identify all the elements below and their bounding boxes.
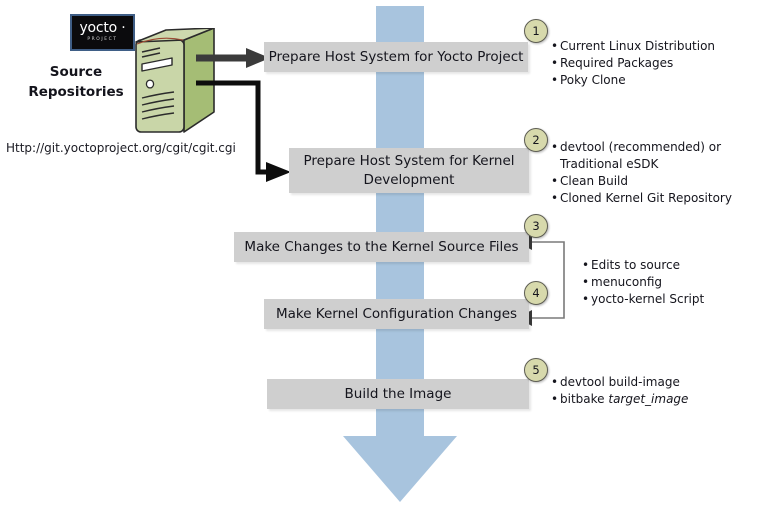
bullet-text: devtool (recommended) or Traditional eSD…: [560, 139, 767, 173]
step-number-3: 3: [524, 214, 548, 238]
bullet-dot-icon: •: [582, 274, 591, 291]
bullet-dot-icon: •: [551, 72, 560, 89]
bullet-item: • Current Linux Distribution: [551, 38, 766, 55]
bullet-text-italic: target_image: [608, 392, 688, 406]
bullet-item: • devtool (recommended) or Traditional e…: [551, 139, 767, 173]
bullet-text-with-italic: bitbake target_image: [560, 391, 766, 408]
bullet-dot-icon: •: [582, 257, 591, 274]
bullet-list-steps-3-4: • Edits to source • menuconfig • yocto-k…: [582, 257, 767, 308]
source-repositories-url: Http://git.yoctoproject.org/cgit/cgit.cg…: [6, 141, 236, 155]
bullet-text: Required Packages: [560, 55, 766, 72]
bullet-item: • bitbake target_image: [551, 391, 766, 408]
bullet-text: menuconfig: [591, 274, 767, 291]
bullet-item: • Edits to source: [582, 257, 767, 274]
logo-wordmark: yocto ·: [79, 22, 125, 35]
bullet-dot-icon: •: [551, 139, 560, 156]
bullet-list-step-1: • Current Linux Distribution • Required …: [551, 38, 766, 89]
step-number-5: 5: [524, 358, 548, 382]
bullet-text: bitbake: [560, 392, 608, 406]
bullet-item: • menuconfig: [582, 274, 767, 291]
bullet-text: yocto-kernel Script: [591, 291, 767, 308]
bullet-item: • yocto-kernel Script: [582, 291, 767, 308]
process-box-prepare-host-yocto[interactable]: Prepare Host System for Yocto Project: [264, 42, 528, 72]
bullet-dot-icon: •: [551, 190, 560, 207]
bullet-text: Edits to source: [591, 257, 767, 274]
bullet-text: Cloned Kernel Git Repository: [560, 190, 767, 207]
bullet-item: • Poky Clone: [551, 72, 766, 89]
bullet-item: • devtool build-image: [551, 374, 766, 391]
bullet-list-step-2: • devtool (recommended) or Traditional e…: [551, 139, 767, 207]
bullet-item: • Cloned Kernel Git Repository: [551, 190, 767, 207]
bullet-text: Poky Clone: [560, 72, 766, 89]
bullet-dot-icon: •: [551, 173, 560, 190]
bullet-dot-icon: •: [551, 391, 560, 408]
bullet-dot-icon: •: [551, 374, 560, 391]
bullet-item: • Required Packages: [551, 55, 766, 72]
bullet-text: Clean Build: [560, 173, 767, 190]
step-number-4: 4: [524, 281, 548, 305]
step-number-2: 2: [524, 128, 548, 152]
process-box-build-the-image[interactable]: Build the Image: [267, 379, 529, 409]
source-repositories-label: Source Repositories: [14, 62, 138, 102]
server-tower-icon: [130, 28, 218, 140]
bullet-text: devtool build-image: [560, 374, 766, 391]
bullet-dot-icon: •: [582, 291, 591, 308]
diagram-canvas: yocto · PROJECT Source Repositories Http…: [0, 0, 769, 517]
source-label-line-2: Repositories: [14, 82, 138, 102]
step-number-1: 1: [524, 19, 548, 43]
bullet-text: Current Linux Distribution: [560, 38, 766, 55]
logo-subtitle: PROJECT: [87, 36, 117, 43]
process-box-make-kernel-source-changes[interactable]: Make Changes to the Kernel Source Files: [234, 232, 529, 262]
process-box-prepare-host-kernel[interactable]: Prepare Host System for Kernel Developme…: [289, 148, 529, 193]
process-box-make-kernel-config-changes[interactable]: Make Kernel Configuration Changes: [264, 299, 529, 329]
bullet-list-step-5: • devtool build-image • bitbake target_i…: [551, 374, 766, 408]
bullet-dot-icon: •: [551, 38, 560, 55]
yocto-project-logo: yocto · PROJECT: [70, 14, 135, 51]
bullet-dot-icon: •: [551, 55, 560, 72]
bullet-item: • Clean Build: [551, 173, 767, 190]
source-label-line-1: Source: [14, 62, 138, 82]
